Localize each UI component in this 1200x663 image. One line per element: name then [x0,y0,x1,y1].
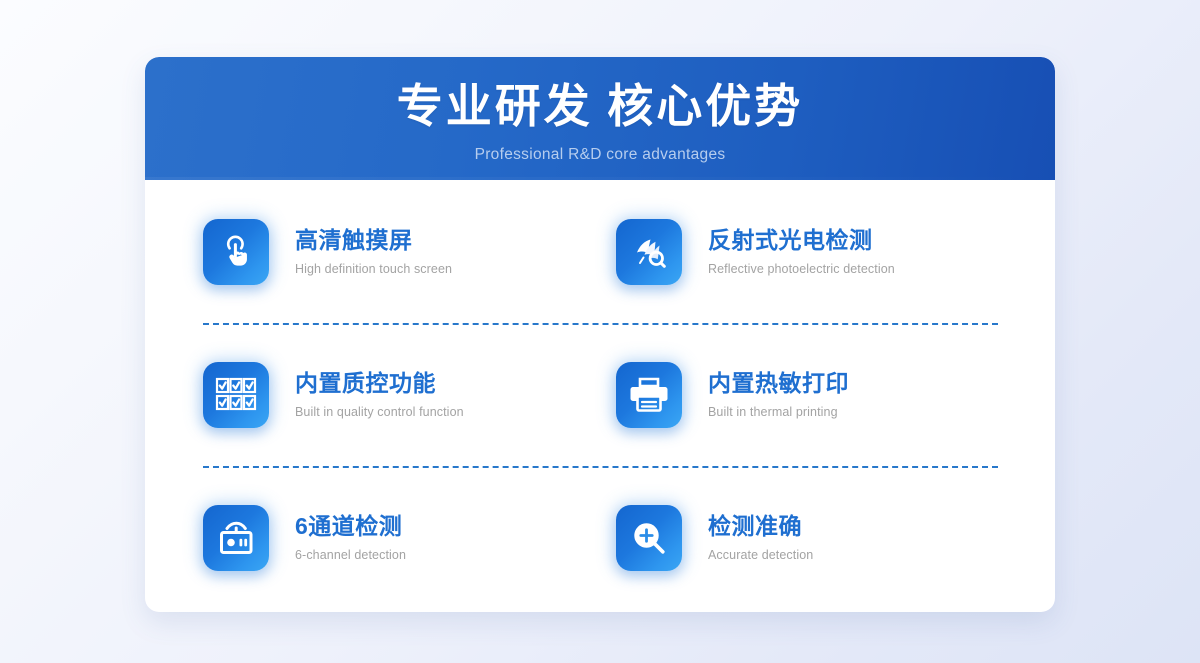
six-channel-device-icon [203,505,269,571]
magnifier-plus-icon [616,505,682,571]
feature-item-quality-control[interactable]: 内置质控功能 Built in quality control function [145,362,600,428]
feature-title: 内置质控功能 [295,370,464,396]
card-header-banner: 专业研发 核心优势 Professional R&D core advantag… [145,57,1055,180]
feature-item-thermal-printing[interactable]: 内置热敏打印 Built in thermal printing [600,362,1055,428]
quality-control-grid-icon [203,362,269,428]
feature-subtitle: Reflective photoelectric detection [708,262,895,276]
feature-text: 高清触摸屏 High definition touch screen [295,227,452,276]
feature-title: 反射式光电检测 [708,227,895,253]
feature-text: 检测准确 Accurate detection [708,513,813,562]
feature-subtitle: 6-channel detection [295,548,406,562]
feature-item-touch-screen[interactable]: 高清触摸屏 High definition touch screen [145,219,600,285]
feature-title: 检测准确 [708,513,813,539]
feature-title: 高清触摸屏 [295,227,452,253]
features-body: 高清触摸屏 High definition touch screen [145,180,1055,609]
feature-card: 专业研发 核心优势 Professional R&D core advantag… [145,57,1055,612]
printer-icon [616,362,682,428]
feature-text: 内置热敏打印 Built in thermal printing [708,370,849,419]
feature-title: 内置热敏打印 [708,370,849,396]
reflective-photoelectric-icon [616,219,682,285]
touch-screen-icon [203,219,269,285]
page-subtitle: Professional R&D core advantages [145,146,1055,164]
feature-subtitle: Built in quality control function [295,405,464,419]
feature-subtitle: Accurate detection [708,548,813,562]
feature-title: 6通道检测 [295,513,406,539]
feature-item-reflective-photoelectric[interactable]: 反射式光电检测 Reflective photoelectric detecti… [600,219,1055,285]
feature-subtitle: High definition touch screen [295,262,452,276]
feature-text: 6通道检测 6-channel detection [295,513,406,562]
feature-text: 内置质控功能 Built in quality control function [295,370,464,419]
feature-item-six-channel[interactable]: 6通道检测 6-channel detection [145,505,600,571]
feature-subtitle: Built in thermal printing [708,405,849,419]
feature-row: 6通道检测 6-channel detection 检测准确 Accurate … [145,466,1055,609]
feature-row: 内置质控功能 Built in quality control function… [145,323,1055,466]
feature-item-accurate-detection[interactable]: 检测准确 Accurate detection [600,505,1055,571]
feature-row: 高清触摸屏 High definition touch screen [145,180,1055,323]
page-title: 专业研发 核心优势 [145,57,1055,130]
feature-text: 反射式光电检测 Reflective photoelectric detecti… [708,227,895,276]
